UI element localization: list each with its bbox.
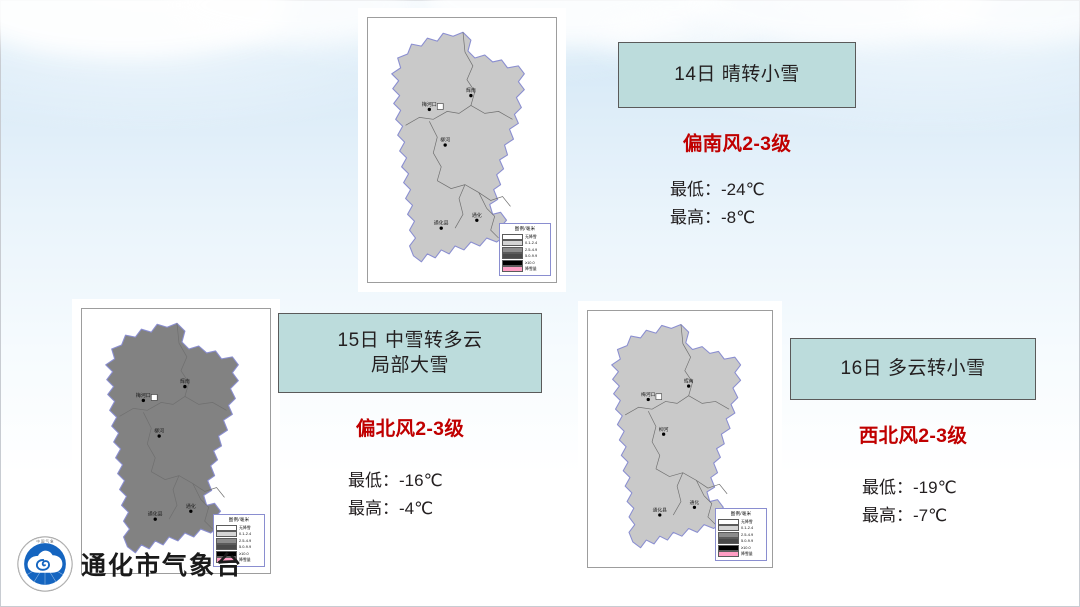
forecast-heading-day-15: 15日 中雪转多云 局部大雪	[278, 313, 542, 393]
temp-min-day-16: 最低：-19℃	[862, 474, 1036, 502]
forecast-heading-day-14: 14日 晴转小雪	[618, 42, 856, 108]
city-marker	[687, 384, 690, 387]
legend-label: 5.0-9.9	[741, 539, 753, 543]
city-marker	[142, 399, 145, 402]
legend-swatch	[502, 260, 523, 266]
legend-title: 图例/毫米	[502, 226, 548, 233]
legend-rows: 无降雪0.1-2.42.5-4.95.0-9.9≥10.0降雪量	[502, 234, 548, 273]
city-marker	[154, 517, 157, 520]
city-label: 通化	[472, 212, 482, 219]
city-marker	[443, 143, 446, 146]
map-legend: 图例/毫米 无降雪0.1-2.42.5-4.95.0-9.9≥10.0降雪量	[499, 223, 551, 276]
legend-row: 2.5-4.9	[502, 247, 548, 253]
temp-min-day-15: 最低：-16℃	[348, 467, 542, 495]
city-label: 柳河	[440, 137, 450, 144]
temperature-block-day-15: 最低：-16℃ 最高：-4℃	[278, 467, 542, 523]
legend-swatch	[718, 538, 739, 544]
city-label: 通化	[690, 499, 700, 506]
legend-swatch	[718, 525, 739, 531]
city-label: 柳河	[659, 426, 669, 433]
city-label: 柳河	[154, 428, 164, 435]
city-label: 通化县	[434, 220, 449, 227]
temperature-block-day-16: 最低：-19℃ 最高：-7℃	[790, 474, 1036, 530]
temp-max-day-14: 最高：-8℃	[670, 204, 856, 232]
wind-text-day-16: 西北风2-3级	[790, 419, 1036, 448]
legend-swatch	[718, 551, 739, 557]
city-label: 辉南	[684, 378, 694, 385]
legend-swatch	[216, 525, 237, 531]
legend-row: 无降雪	[502, 234, 548, 240]
legend-title: 图例/毫米	[718, 511, 764, 518]
city-marker	[157, 434, 160, 437]
map-legend: 图例/毫米 无降雪0.1-2.42.5-4.95.0-9.9≥10.0降雪量	[715, 508, 767, 561]
station-marker	[437, 103, 443, 109]
legend-label: 降雪量	[525, 267, 537, 271]
city-marker	[440, 226, 443, 229]
station-marker	[151, 394, 157, 400]
legend-title: 图例/毫米	[216, 517, 262, 524]
city-marker	[658, 513, 661, 516]
legend-swatch	[502, 266, 523, 272]
map-card-day-14: 辉南梅河口柳河通化县通化集安 图例/毫米 无降雪0.1-2.42.5-4.95.…	[358, 8, 566, 292]
svg-text:中 国 气 象: 中 国 气 象	[36, 539, 54, 544]
city-marker	[428, 108, 431, 111]
legend-label: 无降雪	[239, 526, 251, 530]
station-marker	[656, 394, 662, 400]
wind-text-day-15: 偏北风2-3级	[278, 412, 542, 441]
organization-name: 通化市气象台	[81, 546, 243, 582]
temp-max-day-16: 最高：-7℃	[862, 502, 1036, 530]
legend-row: 无降雪	[718, 519, 764, 525]
wind-text-day-14: 偏南风2-3级	[618, 127, 856, 156]
city-label: 梅河口	[641, 391, 656, 398]
heading-text: 14日 晴转小雪	[674, 62, 799, 87]
cma-cloud-logo-icon: 中 国 气 象	[16, 535, 74, 593]
legend-row: 2.5-4.9	[718, 532, 764, 538]
heading-text: 16日 多云转小雪	[841, 356, 986, 381]
legend-row: 0.1-2.4	[718, 525, 764, 531]
city-label: 辉南	[180, 378, 190, 385]
heading-text-line1: 15日 中雪转多云	[338, 328, 483, 353]
map-frame: 辉南梅河口柳河通化县通化集安 图例/毫米 无降雪0.1-2.42.5-4.95.…	[587, 310, 773, 568]
temp-min-day-14: 最低：-24℃	[670, 176, 856, 204]
legend-label: 0.1-2.4	[741, 526, 753, 530]
city-marker	[693, 506, 696, 509]
city-marker	[662, 433, 665, 436]
legend-label: 2.5-4.9	[525, 248, 537, 252]
legend-swatch	[718, 519, 739, 525]
footer-branding: 中 国 气 象 通化市气象台	[16, 535, 243, 593]
legend-swatch	[502, 253, 523, 259]
legend-label: 无降雪	[525, 235, 537, 239]
temp-max-day-15: 最高：-4℃	[348, 495, 542, 523]
legend-swatch	[502, 240, 523, 246]
legend-row: 0.1-2.4	[502, 240, 548, 246]
legend-label: 2.5-4.9	[741, 533, 753, 537]
temperature-block-day-14: 最低：-24℃ 最高：-8℃	[618, 176, 856, 232]
legend-row: 5.0-9.9	[502, 253, 548, 259]
city-marker	[183, 385, 186, 388]
legend-label: 5.0-9.9	[525, 254, 537, 258]
legend-swatch	[718, 545, 739, 551]
legend-label: 无降雪	[741, 520, 753, 524]
forecast-heading-day-16: 16日 多云转小雪	[790, 338, 1036, 400]
city-label: 通化县	[148, 511, 163, 518]
city-label: 梅河口	[136, 392, 151, 399]
legend-row: 降雪量	[718, 551, 764, 557]
legend-row: 降雪量	[502, 266, 548, 272]
map-card-day-16: 辉南梅河口柳河通化县通化集安 图例/毫米 无降雪0.1-2.42.5-4.95.…	[578, 301, 782, 577]
legend-swatch	[718, 532, 739, 538]
city-label: 辉南	[466, 87, 476, 94]
forecast-panel-day-14: 14日 晴转小雪 偏南风2-3级 最低：-24℃ 最高：-8℃	[618, 42, 856, 232]
map-frame: 辉南梅河口柳河通化县通化集安 图例/毫米 无降雪0.1-2.42.5-4.95.…	[367, 17, 557, 283]
city-marker	[647, 398, 650, 401]
city-marker	[469, 94, 472, 97]
legend-label: 0.1-2.4	[525, 241, 537, 245]
city-marker	[189, 510, 192, 513]
legend-label: ≥10.0	[525, 261, 535, 265]
legend-swatch	[502, 234, 523, 240]
legend-rows: 无降雪0.1-2.42.5-4.95.0-9.9≥10.0降雪量	[718, 519, 764, 558]
forecast-panel-day-15: 15日 中雪转多云 局部大雪 偏北风2-3级 最低：-16℃ 最高：-4℃	[278, 313, 542, 523]
city-label: 通化县	[653, 507, 668, 514]
legend-swatch	[502, 247, 523, 253]
legend-row: ≥10.0	[718, 545, 764, 551]
legend-row: 5.0-9.9	[718, 538, 764, 544]
city-label: 通化	[186, 503, 196, 510]
legend-label: 降雪量	[741, 552, 753, 556]
legend-label: ≥10.0	[741, 546, 751, 550]
city-label: 梅河口	[422, 101, 437, 108]
legend-row: 无降雪	[216, 525, 262, 531]
heading-text-line2: 局部大雪	[338, 353, 483, 378]
forecast-panel-day-16: 16日 多云转小雪 西北风2-3级 最低：-19℃ 最高：-7℃	[790, 338, 1036, 530]
city-marker	[475, 219, 478, 222]
legend-row: ≥10.0	[502, 260, 548, 266]
